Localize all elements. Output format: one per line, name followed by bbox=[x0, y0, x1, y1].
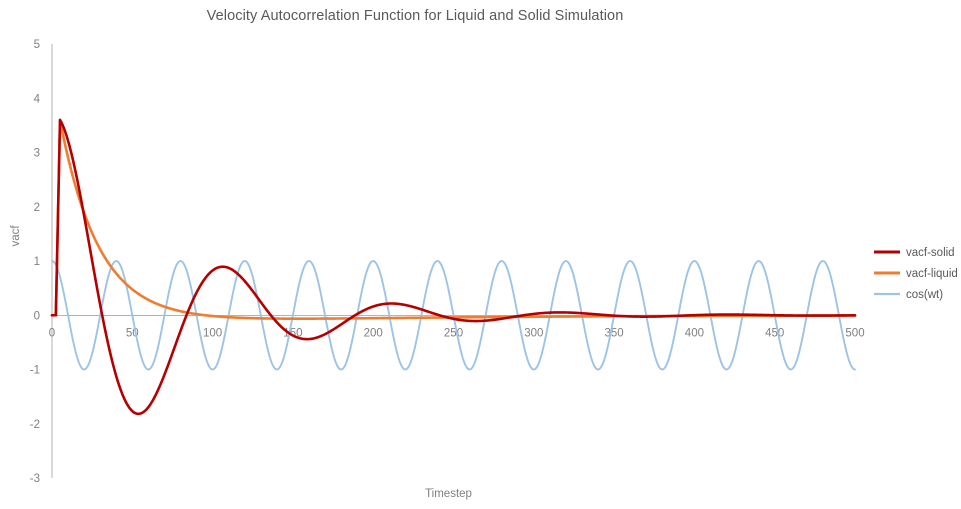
x-tick-label: 200 bbox=[364, 327, 383, 339]
y-tick-label: -1 bbox=[30, 365, 40, 377]
x-tick-label: 450 bbox=[765, 327, 784, 339]
y-tick-label: 0 bbox=[34, 310, 40, 322]
plot-svg: 543210-1-2-3 050100150200250300350400450… bbox=[0, 0, 961, 509]
x-tick-label: 100 bbox=[203, 327, 222, 339]
chart-legend: vacf-solidvacf-liquidcos(wt) bbox=[874, 247, 958, 301]
y-tick-label: 5 bbox=[34, 39, 40, 51]
x-tick-label: 0 bbox=[49, 327, 55, 339]
x-tick-label: 400 bbox=[685, 327, 704, 339]
legend-label-coswt: cos(wt) bbox=[906, 289, 943, 301]
x-axis-title: Timestep bbox=[425, 488, 472, 500]
y-tick-label: 2 bbox=[34, 202, 40, 214]
x-tick-label: 350 bbox=[605, 327, 624, 339]
legend-label-vacf-liquid: vacf-liquid bbox=[906, 268, 958, 280]
y-axis: 543210-1-2-3 bbox=[30, 39, 855, 485]
y-tick-label: 3 bbox=[34, 148, 40, 160]
series-group bbox=[52, 120, 855, 414]
y-tick-label: -3 bbox=[30, 473, 40, 485]
series-line-vacf-solid bbox=[52, 120, 855, 414]
x-tick-label: 500 bbox=[845, 327, 864, 339]
series-line-vacf-liquid bbox=[52, 120, 855, 319]
y-axis-title: vacf bbox=[10, 225, 22, 247]
legend-label-vacf-solid: vacf-solid bbox=[906, 247, 955, 259]
x-tick-label: 250 bbox=[444, 327, 463, 339]
y-tick-label: 1 bbox=[34, 256, 40, 268]
y-tick-label: 4 bbox=[34, 93, 41, 105]
chart-container: Velocity Autocorrelation Function for Li… bbox=[0, 0, 961, 509]
y-tick-label: -2 bbox=[30, 419, 40, 431]
x-tick-label: 300 bbox=[524, 327, 543, 339]
